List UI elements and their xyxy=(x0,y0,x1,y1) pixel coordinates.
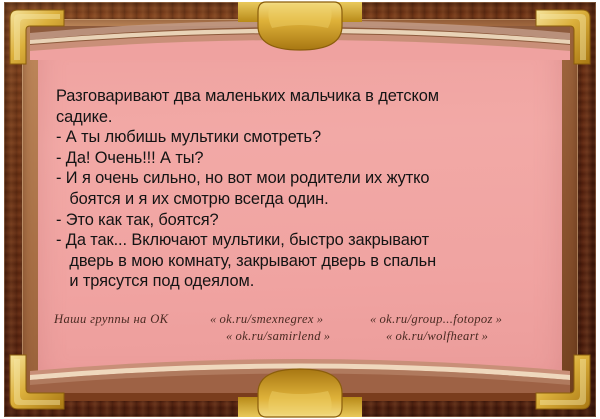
footer-link-2[interactable]: ok.ru/group...fotopoz xyxy=(370,312,540,327)
footer-row-2: ok.ru/samirlend ok.ru/wolfheart xyxy=(54,329,552,346)
footer-link-1[interactable]: ok.ru/smexnegrex xyxy=(210,312,370,327)
framed-image-canvas: Разговаривают два маленьких мальчика в д… xyxy=(0,0,600,419)
footer-label: Наши группы на ОК xyxy=(54,312,210,327)
joke-text-body: Разговаривают два маленьких мальчика в д… xyxy=(56,86,548,292)
footer-row-1: Наши группы на ОК ok.ru/smexnegrex ok.ru… xyxy=(54,312,552,329)
footer-link-3[interactable]: ok.ru/samirlend xyxy=(226,329,386,344)
footer-credits: Наши группы на ОК ok.ru/smexnegrex ok.ru… xyxy=(54,312,552,346)
footer-link-4[interactable]: ok.ru/wolfheart xyxy=(386,329,556,344)
